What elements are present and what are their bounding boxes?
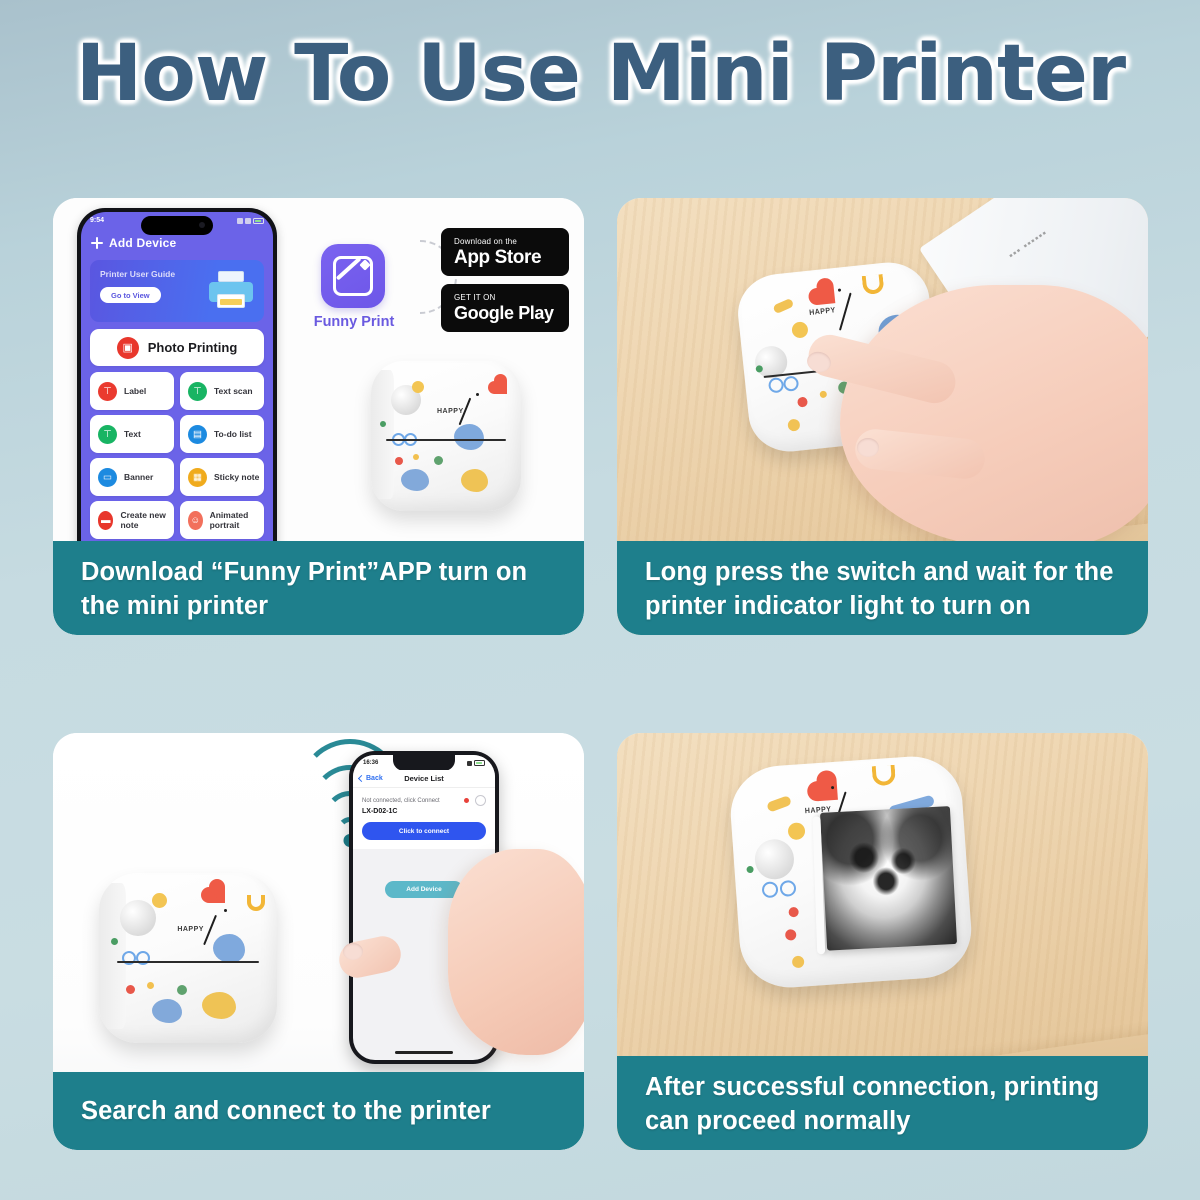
device-brand-label: HAPPY — [809, 307, 836, 317]
panel-3-caption: Search and connect to the printer — [53, 1072, 584, 1150]
device-brand-label: HAPPY — [437, 407, 464, 415]
panel-1-caption: Download “Funny Print”APP turn on the mi… — [53, 541, 584, 635]
click-to-connect-button[interactable]: Click to connect — [362, 822, 486, 840]
printed-dog-photo — [820, 806, 957, 950]
photo-icon: ▣ — [117, 337, 139, 359]
page-header: How To Use Mini Printer — [0, 18, 1200, 130]
feature-grid: ⊤ Label ⊤ Text scan ⊤ Text ▤ To-do list — [90, 372, 264, 539]
google-play-small-label: GET IT ON — [454, 293, 569, 303]
printer-user-guide-card[interactable]: Printer User Guide Go to View — [90, 260, 264, 322]
step-panel-2: ▪▪▪ ▪▪▪▪▪▪ HAPPY — [617, 198, 1148, 635]
todo-list-icon: ▤ — [188, 425, 207, 444]
add-device-label: Add Device — [109, 236, 176, 250]
mini-printer-device: HAPPY — [728, 753, 975, 991]
feature-tile-animated-portrait[interactable]: ☺ Animated portrait — [180, 501, 264, 539]
photo-printing-label: Photo Printing — [148, 340, 238, 355]
navigation-bar: Back Device List — [353, 770, 495, 788]
device-list-card: Not connected, click Connect LX-D02-1C C… — [353, 788, 495, 849]
photo-printing-button[interactable]: ▣ Photo Printing — [90, 329, 264, 366]
feature-tile-text[interactable]: ⊤ Text — [90, 415, 174, 453]
text-scan-icon: ⊤ — [188, 382, 207, 401]
app-store-big-label: App Store — [454, 247, 569, 268]
feature-tile-create-new-note[interactable]: ▬ Create new note — [90, 501, 174, 539]
feature-tile-todo-list[interactable]: ▤ To-do list — [180, 415, 264, 453]
hand-holding-phone — [448, 849, 584, 1055]
feature-tile-label[interactable]: ⊤ Label — [90, 372, 174, 410]
sticky-note-icon: ▦ — [188, 468, 207, 487]
chevron-left-icon — [358, 775, 365, 782]
hand — [840, 285, 1148, 547]
plus-icon — [91, 237, 103, 249]
google-play-badge[interactable]: GET IT ON Google Play — [441, 284, 569, 332]
status-time: 9:54 — [90, 217, 104, 224]
step-panel-4: HAPPY After successful connection, print… — [617, 733, 1148, 1150]
animated-portrait-icon: ☺ — [188, 511, 203, 530]
status-time: 16:36 — [363, 760, 378, 766]
refresh-icon[interactable] — [475, 795, 486, 806]
home-indicator — [395, 1051, 453, 1054]
step-panel-1: 9:54 Add Device Printer User Guide Go to… — [53, 198, 584, 635]
add-device-button[interactable]: Add Device — [385, 881, 463, 898]
panel-4-caption: After successful connection, printing ca… — [617, 1056, 1148, 1150]
app-name-label: Funny Print — [306, 314, 402, 330]
device-name: LX-D02-1C — [362, 808, 486, 815]
phone-notch — [393, 755, 455, 771]
panel-2-caption: Long press the switch and wait for the p… — [617, 541, 1148, 635]
banner-icon: ▭ — [98, 468, 117, 487]
device-status-text: Not connected, click Connect — [362, 798, 440, 804]
phone-mockup-app-home: 9:54 Add Device Printer User Guide Go to… — [77, 208, 277, 558]
back-button[interactable]: Back — [359, 775, 383, 782]
feature-tile-banner[interactable]: ▭ Banner — [90, 458, 174, 496]
page-title: How To Use Mini Printer — [75, 29, 1124, 119]
label-icon: ⊤ — [98, 382, 117, 401]
step-panel-3: HAPPY 16:36 Back — [53, 733, 584, 1150]
feature-tile-text-scan[interactable]: ⊤ Text scan — [180, 372, 264, 410]
nav-title: Device List — [404, 774, 444, 783]
text-icon: ⊤ — [98, 425, 117, 444]
funny-print-app-icon — [321, 244, 385, 308]
mini-printer-device: HAPPY — [99, 873, 277, 1043]
app-store-badge[interactable]: Download on the App Store — [441, 228, 569, 276]
status-icons — [237, 218, 264, 224]
fingernail-2 — [857, 438, 879, 457]
go-to-view-button[interactable]: Go to View — [100, 287, 161, 303]
feature-tile-sticky-note[interactable]: ▦ Sticky note — [180, 458, 264, 496]
device-brand-label: HAPPY — [177, 925, 204, 933]
app-store-small-label: Download on the — [454, 237, 569, 247]
google-play-big-label: Google Play — [454, 303, 569, 324]
printer-illustration-icon — [209, 271, 253, 311]
status-indicator-dot — [464, 798, 469, 803]
thumb-nail — [343, 943, 363, 960]
create-note-icon: ▬ — [98, 511, 113, 530]
mini-printer-device: HAPPY — [371, 361, 521, 511]
dynamic-island — [141, 216, 213, 235]
